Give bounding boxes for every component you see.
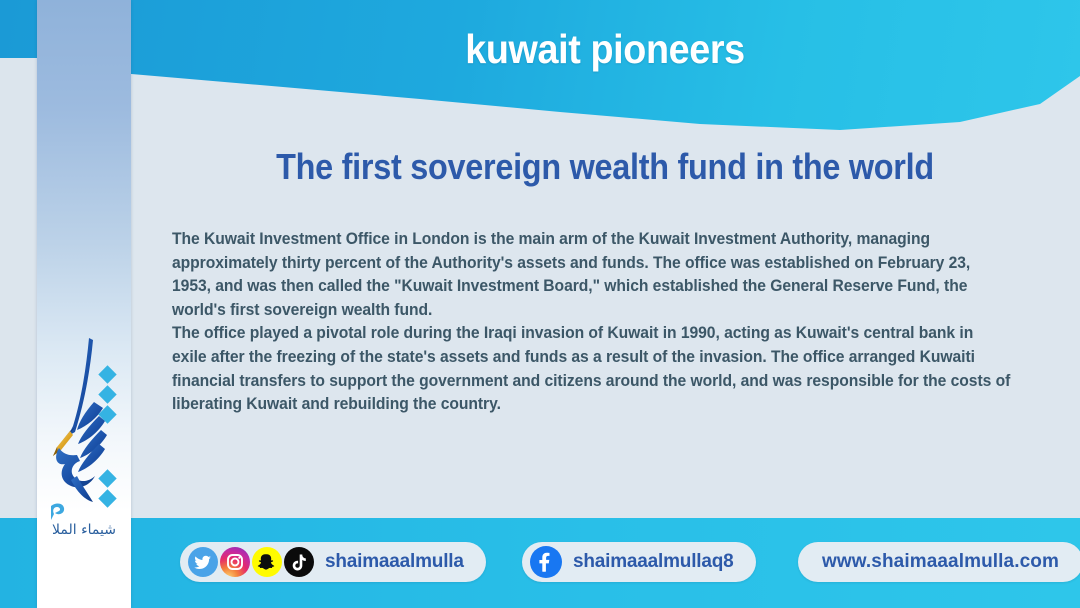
tiktok-icon[interactable] (284, 547, 314, 577)
facebook-icon[interactable] (530, 546, 562, 578)
left-strip (0, 58, 37, 518)
poster-canvas: شيماء الملا kuwait pioneers The first so… (0, 0, 1080, 608)
website-pill[interactable]: www.shaimaaalmulla.com (798, 542, 1080, 582)
article-body: The Kuwait Investment Office in London i… (172, 228, 1010, 417)
logo-card: شيماء الملا (37, 0, 131, 608)
social-handles-pill[interactable]: shaimaaalmulla (180, 542, 486, 582)
instagram-icon[interactable] (220, 547, 250, 577)
facebook-handle-label: shaimaaalmullaq8 (573, 551, 734, 573)
article-paragraph-1: The Kuwait Investment Office in London i… (172, 228, 1010, 322)
social-handle-label: shaimaaalmulla (325, 551, 464, 573)
facebook-handle-pill[interactable]: shaimaaalmullaq8 (522, 542, 756, 582)
website-url-label: www.shaimaaalmulla.com (822, 551, 1059, 573)
shaimaa-almulla-calligraphy-logo (37, 330, 131, 530)
article-title: The first sovereign wealth fund in the w… (187, 146, 1024, 188)
snapchat-icon[interactable] (252, 547, 282, 577)
twitter-icon[interactable] (188, 547, 218, 577)
article-paragraph-2: The office played a pivotal role during … (172, 322, 1010, 416)
page-title-header: kuwait pioneers (177, 26, 1033, 73)
logo-arabic-name: شيماء الملا (37, 522, 131, 538)
